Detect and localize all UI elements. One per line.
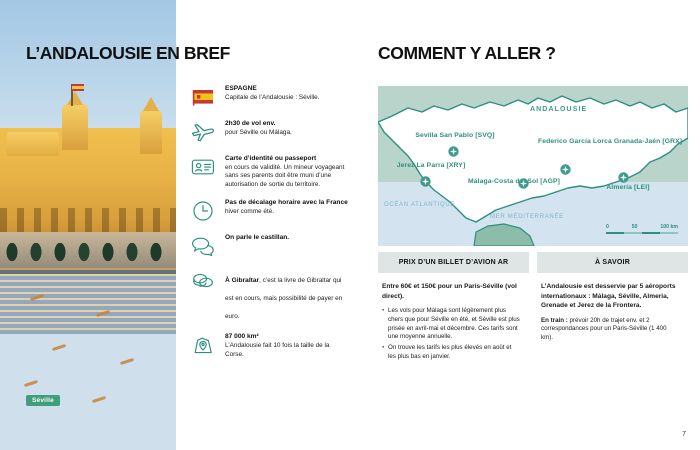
fact-title: ESPAGNE <box>225 85 350 94</box>
airplane-pin-icon <box>448 144 459 155</box>
fact-body: Pas de décalage horaire avec la France h… <box>225 198 350 216</box>
seville-photo: Séville <box>0 0 176 450</box>
fact-title: À Gibraltar <box>225 277 259 284</box>
info-box-lead: L’Andalousie est desservie par 5 aéropor… <box>541 282 679 311</box>
map-sea-label: MER MÉDITERRANÉE <box>490 214 564 220</box>
fact-body: 87 000 km² L’Andalousie fait 10 fois la … <box>225 332 350 359</box>
fact-item: Carte d’identité ou passeport en cours d… <box>190 154 350 189</box>
clock-icon <box>190 198 216 224</box>
fact-text: pour Séville ou Málaga. <box>225 129 350 138</box>
airplane-pin-icon <box>518 176 529 187</box>
spain-flag-icon <box>190 84 216 110</box>
fact-body: Carte d’identité ou passeport en cours d… <box>225 154 350 189</box>
map-scale-line <box>606 232 678 235</box>
scale-tick-50: 50 <box>632 224 638 230</box>
info-box-bullet: On trouve les tarifs les plus élevés en … <box>382 344 520 362</box>
map-airport-label-lei: Almería [LEI] <box>588 184 668 192</box>
fact-text: hiver comme été. <box>225 208 350 217</box>
fact-body: À Gibraltar, c’est la livre de Gibraltar… <box>225 268 350 323</box>
scale-tick-0: 0 <box>606 224 609 230</box>
fact-title: 2h30 de vol env. <box>225 120 350 129</box>
fact-text: Capitale de l’Andalousie : Séville. <box>225 94 350 103</box>
info-box-header: À SAVOIR <box>537 252 688 273</box>
facts-list: ESPAGNE Capitale de l’Andalousie : Sévil… <box>190 84 350 368</box>
info-box-train-note: En train : prévoir 20h de trajet env. et… <box>541 317 679 343</box>
coins-icon <box>190 268 216 294</box>
fact-title: Pas de décalage horaire avec la France <box>225 199 350 208</box>
fact-item: 87 000 km² L’Andalousie fait 10 fois la … <box>190 332 350 359</box>
left-text-column: L’ANDALOUSIE EN BREF ESPAGN <box>176 0 352 450</box>
page-title-right: COMMENT Y ALLER ? <box>378 44 556 63</box>
id-card-icon <box>190 154 216 180</box>
map-scale-bar: 0 50 100 km <box>606 224 678 234</box>
map-airport-label-xry: Jerez La Parra [XRY] <box>380 162 482 170</box>
speech-bubbles-icon <box>190 233 216 259</box>
fact-text: en cours de validité. Un mineur voyagean… <box>225 164 350 190</box>
map-airport-label-agp: Málaga-Costa del Sol [AGP] <box>464 178 564 186</box>
fact-title: Carte d’identité ou passeport <box>225 155 350 164</box>
info-box-header: PRIX D’UN BILLET D’AVION AR <box>378 252 529 273</box>
info-box-lead: Entre 60€ et 150€ pour un Paris-Séville … <box>382 282 520 301</box>
info-box-bullet: Les vols pour Málaga sont légèrement plu… <box>382 307 520 342</box>
fact-title: On parle le castillan. <box>225 234 350 243</box>
airplane-icon <box>190 119 216 145</box>
page-title-left: L’ANDALOUSIE EN BREF <box>26 44 356 63</box>
fact-title: 87 000 km² <box>225 333 350 342</box>
info-boxes: PRIX D’UN BILLET D’AVION AR Entre 60€ et… <box>378 252 688 372</box>
map-ocean-label: OCÉAN ATLANTIQUE <box>384 202 442 210</box>
airplane-pin-icon <box>560 162 571 173</box>
map-airport-label-grx: Federico García Lorca Granada-Jaén [GRX] <box>538 138 668 146</box>
photo-caption-badge: Séville <box>26 395 60 406</box>
fact-item: ESPAGNE Capitale de l’Andalousie : Sévil… <box>190 84 350 110</box>
map-pin-icon <box>190 332 216 358</box>
info-box-body: L’Andalousie est desservie par 5 aéropor… <box>537 273 688 351</box>
map-region-label: ANDALOUSIE <box>530 106 587 113</box>
map-scale-numbers: 0 50 100 km <box>606 224 678 230</box>
fact-body: 2h30 de vol env. pour Séville ou Málaga. <box>225 119 350 137</box>
left-column: Séville L’ANDALOUSIE EN BREF <box>0 0 352 450</box>
airplane-pin-icon <box>420 174 431 185</box>
info-box-good-to-know: À SAVOIR L’Andalousie est desservie par … <box>537 252 688 372</box>
fact-item: À Gibraltar, c’est la livre de Gibraltar… <box>190 268 350 323</box>
fact-item: Pas de décalage horaire avec la France h… <box>190 198 350 224</box>
map-airport-label-svq: Sevilla San Pablo [SVQ] <box>396 132 514 140</box>
info-box-ticket-price: PRIX D’UN BILLET D’AVION AR Entre 60€ et… <box>378 252 529 372</box>
guide-page: Séville L’ANDALOUSIE EN BREF <box>0 0 700 450</box>
photo-spanish-flag <box>72 84 84 91</box>
photo-tower-right <box>140 110 162 154</box>
fact-item: On parle le castillan. <box>190 233 350 259</box>
fact-item: 2h30 de vol env. pour Séville ou Málaga. <box>190 119 350 145</box>
fact-body: ESPAGNE Capitale de l’Andalousie : Sévil… <box>225 84 350 102</box>
photo-tower-left <box>62 104 88 150</box>
fact-text: L’Andalousie fait 10 fois la taille de l… <box>225 342 350 359</box>
info-box-body: Entre 60€ et 150€ pour un Paris-Séville … <box>378 273 529 372</box>
page-number: 7 <box>682 431 686 438</box>
fact-body: On parle le castillan. <box>225 233 350 243</box>
andalusia-map: ANDALOUSIE OCÉAN ATLANTIQUE MER MÉDITERR… <box>378 86 688 246</box>
airplane-pin-icon <box>618 170 629 181</box>
train-label: En train : <box>541 317 568 324</box>
right-column: COMMENT Y ALLER ? ANDALOUSIE OCÉAN ATLAN… <box>352 0 700 450</box>
scale-tick-100: 100 km <box>660 224 678 230</box>
photo-water-reflection <box>0 268 176 334</box>
